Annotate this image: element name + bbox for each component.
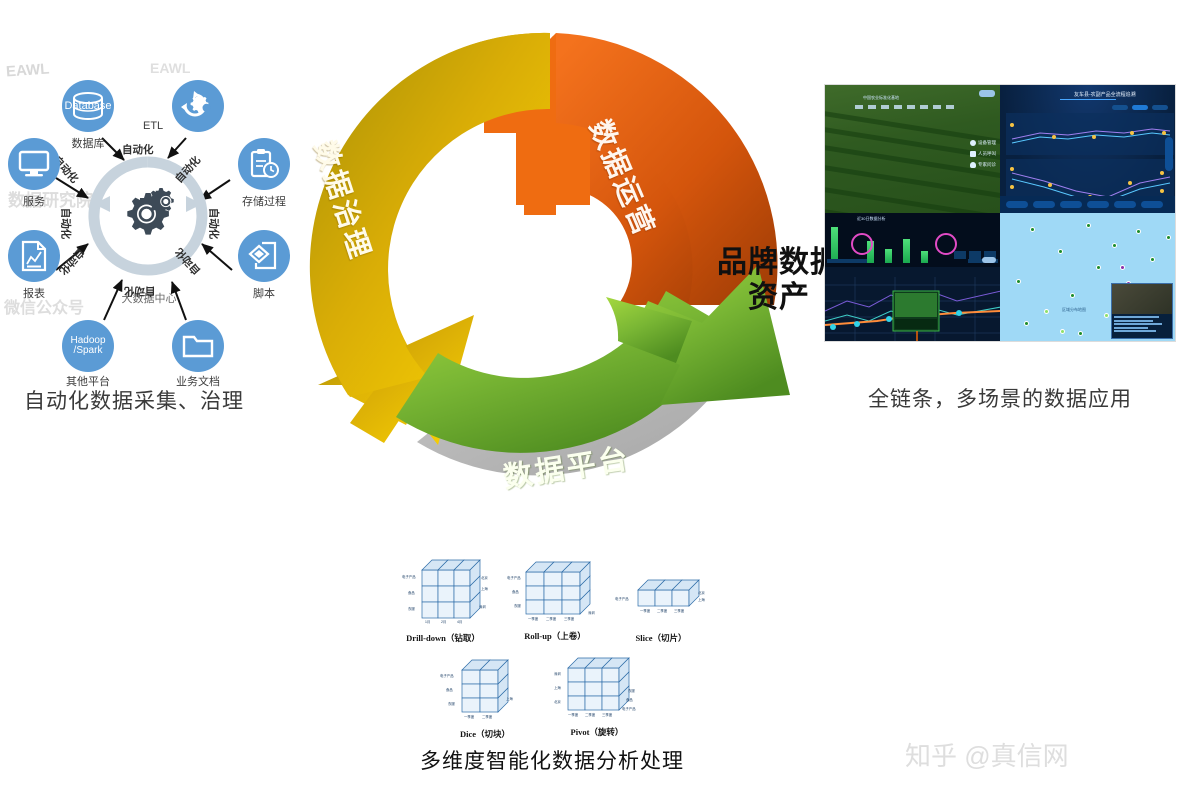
title-underline	[1060, 99, 1116, 100]
map-inset-panel[interactable]	[1111, 283, 1173, 339]
cube-depth-label: 上海	[481, 586, 488, 591]
caption-bottom: 多维度智能化数据分析处理	[420, 745, 684, 775]
node-service[interactable]	[8, 138, 60, 190]
caption-database: 数据库	[43, 138, 133, 150]
cube-dice[interactable]: 电子产品 食品 衣服 一季度 二季度 上海 Dice（切块）	[440, 656, 530, 727]
dashboard-field-monitor[interactable]: 中国农业标准化基地 设备管理 人员呼叫 专家问诊	[825, 85, 1000, 213]
node-script[interactable]	[238, 230, 290, 282]
cube-grid-icon	[616, 576, 708, 620]
cube-col-label: 二季度	[482, 714, 492, 719]
map-inset-photo	[1112, 284, 1172, 314]
person-icon	[970, 162, 976, 168]
node-business-doc[interactable]	[172, 320, 224, 372]
flow-label-left: 自动化	[58, 208, 73, 240]
node-other-platform[interactable]: Hadoop /Spark	[62, 320, 114, 372]
cube-row-label: 北京	[554, 699, 561, 704]
cube-row-label: 衣服	[408, 606, 415, 611]
cube-col-label: 一季度	[464, 714, 474, 719]
cube-col-label: 三季度	[602, 712, 612, 717]
cube-row-label: 食品	[512, 589, 519, 594]
filter-chip[interactable]	[1152, 105, 1168, 110]
cube-col-label: 三季度	[564, 616, 574, 621]
wave-badge[interactable]	[982, 257, 996, 263]
cube-row-label: 食品	[408, 590, 415, 595]
cube-col-label: 4月	[457, 619, 462, 624]
cube-row-label: 衣服	[448, 701, 455, 706]
cube-row-label: 电子产品	[402, 574, 416, 579]
field-badge[interactable]	[979, 90, 995, 97]
caption-right: 全链条，多场景的数据应用	[868, 383, 1132, 413]
tab-chip[interactable]	[1033, 201, 1055, 208]
cube-row-label: 电子产品	[507, 575, 521, 580]
field-menu[interactable]: 设备管理 人员呼叫 专家问诊	[970, 137, 996, 170]
field-menu-label: 人员呼叫	[978, 148, 996, 159]
cube-caption: Dice（切块）	[420, 728, 550, 740]
caption-service: 服务	[0, 196, 79, 208]
map-inset-rows	[1112, 314, 1172, 334]
cube-caption: Drill-down（钻取）	[378, 632, 508, 644]
cube-drill-down[interactable]: 电子产品 食品 衣服 1月 2月 4月 北京 上海 深圳 Drill-down（…	[400, 556, 496, 633]
cube-depth-label: 上海	[506, 696, 513, 701]
cube-depth-label: 衣服	[628, 688, 635, 693]
caption-report: 报表	[0, 288, 79, 300]
cube-depth-label: 深圳	[479, 604, 486, 609]
cube-col-label: 2月	[441, 619, 446, 624]
cube-col-label: 三季度	[674, 608, 684, 613]
cube-col-label: 一季度	[568, 712, 578, 717]
filter-chip[interactable]	[1132, 105, 1148, 110]
trace-panel-title: 友车县-农副产品全流程追溯	[1074, 91, 1136, 98]
cube-col-label: 二季度	[657, 608, 667, 613]
gear-icon	[970, 140, 976, 146]
node-stored-procedure[interactable]	[238, 138, 290, 190]
cube-depth-label: 北京	[481, 575, 488, 580]
cube-row-label: 深圳	[554, 671, 561, 676]
report-icon	[20, 240, 48, 272]
brand-watermark: 知乎 @真信网	[905, 736, 1069, 773]
field-panel-title: 中国农业标准化基地	[863, 95, 899, 101]
clipboard-clock-icon	[249, 148, 279, 180]
olap-cube-diagrams: 电子产品 食品 衣服 1月 2月 4月 北京 上海 深圳 Drill-down（…	[378, 552, 723, 732]
cube-row-label: 上海	[554, 685, 561, 690]
node-etl[interactable]	[172, 80, 224, 132]
side-rail-button[interactable]	[1165, 137, 1173, 171]
poster-root: EAWL 数据研究院 微信公众号 EAWL	[0, 0, 1187, 795]
cube-col-label: 1月	[425, 619, 430, 624]
node-report[interactable]	[8, 230, 60, 282]
flow-label-bottom: 自动化	[124, 284, 156, 299]
cube-row-label: 食品	[446, 687, 453, 692]
tab-chip[interactable]	[1141, 201, 1163, 208]
field-menu-label: 设备管理	[978, 137, 996, 148]
hadoop-spark-text: Hadoop /Spark	[62, 336, 114, 357]
chat-icon	[970, 151, 976, 157]
field-menu-item: 人员呼叫	[970, 148, 996, 159]
script-icon	[248, 241, 280, 271]
cube-depth-label: 北京	[698, 590, 705, 595]
tab-chip[interactable]	[1114, 201, 1136, 208]
folder-icon	[182, 333, 214, 359]
cube-depth-label: 电子产品	[622, 706, 636, 711]
cube-depth-label: 上海	[698, 597, 705, 602]
cube-col-label: 二季度	[585, 712, 595, 717]
wave-chart	[825, 267, 1000, 341]
cube-col-label: 二季度	[546, 616, 556, 621]
cube-caption: Pivot（旋转）	[532, 726, 662, 738]
caption-etl: ETL	[143, 120, 163, 132]
dashboard-trace-charts[interactable]: 友车县-农副产品全流程追溯	[1000, 85, 1175, 213]
cube-row-label: 电子产品	[615, 596, 629, 601]
tab-chip[interactable]	[1006, 201, 1028, 208]
etl-gear-icon	[179, 91, 217, 121]
monitor-icon	[18, 150, 50, 178]
cube-row-label: 衣服	[514, 603, 521, 608]
data-dashboard-screenshot[interactable]: 中国农业标准化基地 设备管理 人员呼叫 专家问诊 友车县-农副产品全流程追溯	[824, 84, 1176, 342]
caption-left: 自动化数据采集、治理	[24, 385, 244, 415]
cube-depth-label: 深圳	[588, 610, 595, 615]
cycle-center-line1: 品牌数据	[717, 246, 841, 279]
dashboard-geo-map[interactable]: 区域分布地图	[1000, 213, 1175, 341]
database-inline-text: Database	[63, 101, 113, 113]
flow-label-right: 自动化	[206, 208, 221, 240]
map-label: 区域分布地图	[1062, 307, 1086, 313]
big-data-center-diagram: EAWL 数据研究院 微信公众号 EAWL	[0, 58, 310, 388]
cube-pivot[interactable]: 深圳 上海 北京 一季度 二季度 三季度 衣服 食品 电子产品 Pivot（旋转…	[550, 654, 646, 727]
cube-depth-label: 食品	[626, 697, 633, 702]
cube-col-label: 一季度	[528, 616, 538, 621]
cube-caption: Slice（切片）	[596, 632, 726, 644]
dashboard-kpi-and-wave[interactable]: 近30日数据分析	[825, 213, 1000, 341]
cube-roll-up[interactable]: 电子产品 食品 衣服 一季度 二季度 三季度 深圳 Roll-up（上卷）	[508, 558, 604, 631]
cube-slice[interactable]: 电子产品 一季度 二季度 三季度 北京 上海 Slice（切片）	[616, 576, 708, 625]
wave-legend-left	[827, 259, 867, 263]
cube-col-label: 一季度	[640, 608, 650, 613]
kpi-title: 近30日数据分析	[857, 216, 885, 222]
tab-chip[interactable]	[1087, 201, 1109, 208]
field-menu-item: 专家问诊	[970, 159, 996, 170]
cube-grid-icon	[440, 656, 530, 722]
gauge-left	[851, 233, 873, 255]
field-menu-item: 设备管理	[970, 137, 996, 148]
gears-icon	[112, 184, 186, 246]
three-phase-cycle: 品牌数据 资产 数据治理 数据运营 数据平台	[288, 5, 808, 550]
trace-tabs[interactable]	[1006, 201, 1163, 208]
tab-chip[interactable]	[1060, 201, 1082, 208]
filter-chip[interactable]	[1112, 105, 1128, 110]
cycle-center-line2: 资产	[748, 281, 810, 314]
field-menu-label: 专家问诊	[978, 159, 996, 170]
field-subtitle-strip	[855, 105, 955, 109]
cube-row-label: 电子产品	[440, 673, 454, 678]
